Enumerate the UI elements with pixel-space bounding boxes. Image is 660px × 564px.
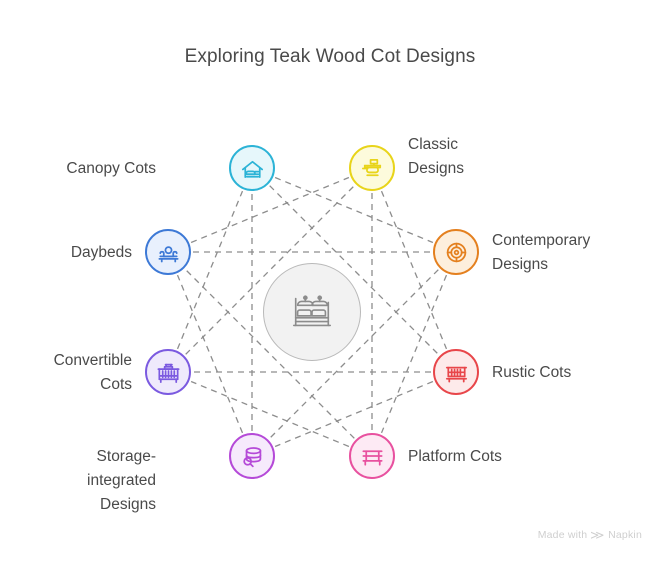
node-contemporary-designs[interactable] <box>433 229 479 275</box>
node-label: Canopy Cots <box>0 157 156 181</box>
node-label-line: Designs <box>408 157 578 181</box>
node-label-line: Cots <box>0 373 132 397</box>
node-label-line: Canopy Cots <box>0 157 156 181</box>
connector-line <box>275 382 433 447</box>
connector-line <box>178 191 243 349</box>
node-label-line: Rustic Cots <box>492 361 660 385</box>
connector-line <box>191 178 349 243</box>
node-label-line: Contemporary <box>492 229 660 253</box>
node-convertible-cots[interactable] <box>145 349 191 395</box>
watermark: Made with ≫ Napkin <box>538 528 642 542</box>
node-label-line: Storage- <box>0 445 156 469</box>
crib-icon <box>155 359 182 386</box>
target-compass-icon <box>443 239 470 266</box>
connector-line <box>382 191 447 349</box>
anvil-icon <box>359 155 386 182</box>
node-label: Platform Cots <box>408 445 578 469</box>
node-label: Rustic Cots <box>492 361 660 385</box>
node-label-line: Classic <box>408 133 578 157</box>
node-label-line: integrated <box>0 469 156 493</box>
node-label: Storage-integratedDesigns <box>0 445 156 517</box>
daybed-sofa-icon <box>155 239 182 266</box>
node-label-line: Designs <box>0 493 156 517</box>
storage-bin-search-icon <box>239 443 266 470</box>
node-canopy-cots[interactable] <box>229 145 275 191</box>
node-label: Daybeds <box>0 241 132 265</box>
napkin-logo-icon: ≫ <box>590 528 605 542</box>
node-rustic-cots[interactable] <box>433 349 479 395</box>
canopy-bed-icon <box>239 155 266 182</box>
center-node <box>263 263 361 361</box>
slat-bench-icon <box>443 359 470 386</box>
node-label-line: Convertible <box>0 349 132 373</box>
connector-line <box>275 178 433 243</box>
node-label: ContemporaryDesigns <box>492 229 660 277</box>
node-daybeds[interactable] <box>145 229 191 275</box>
platform-bed-icon <box>359 443 386 470</box>
connector-line <box>191 382 349 447</box>
node-label: ClassicDesigns <box>408 133 578 181</box>
node-label: ConvertibleCots <box>0 349 132 397</box>
node-label-line: Designs <box>492 253 660 277</box>
node-label-line: Platform Cots <box>408 445 578 469</box>
connector-line <box>382 275 447 433</box>
watermark-brand: Napkin <box>608 529 642 541</box>
double-bed-icon <box>289 289 335 335</box>
node-platform-cots[interactable] <box>349 433 395 479</box>
diagram-canvas: Exploring Teak Wood Cot Designs C <box>0 0 660 564</box>
node-classic-designs[interactable] <box>349 145 395 191</box>
node-label-line: Daybeds <box>0 241 132 265</box>
connector-line <box>178 275 243 433</box>
node-storage-integrated-designs[interactable] <box>229 433 275 479</box>
watermark-text: Made with <box>538 529 588 541</box>
